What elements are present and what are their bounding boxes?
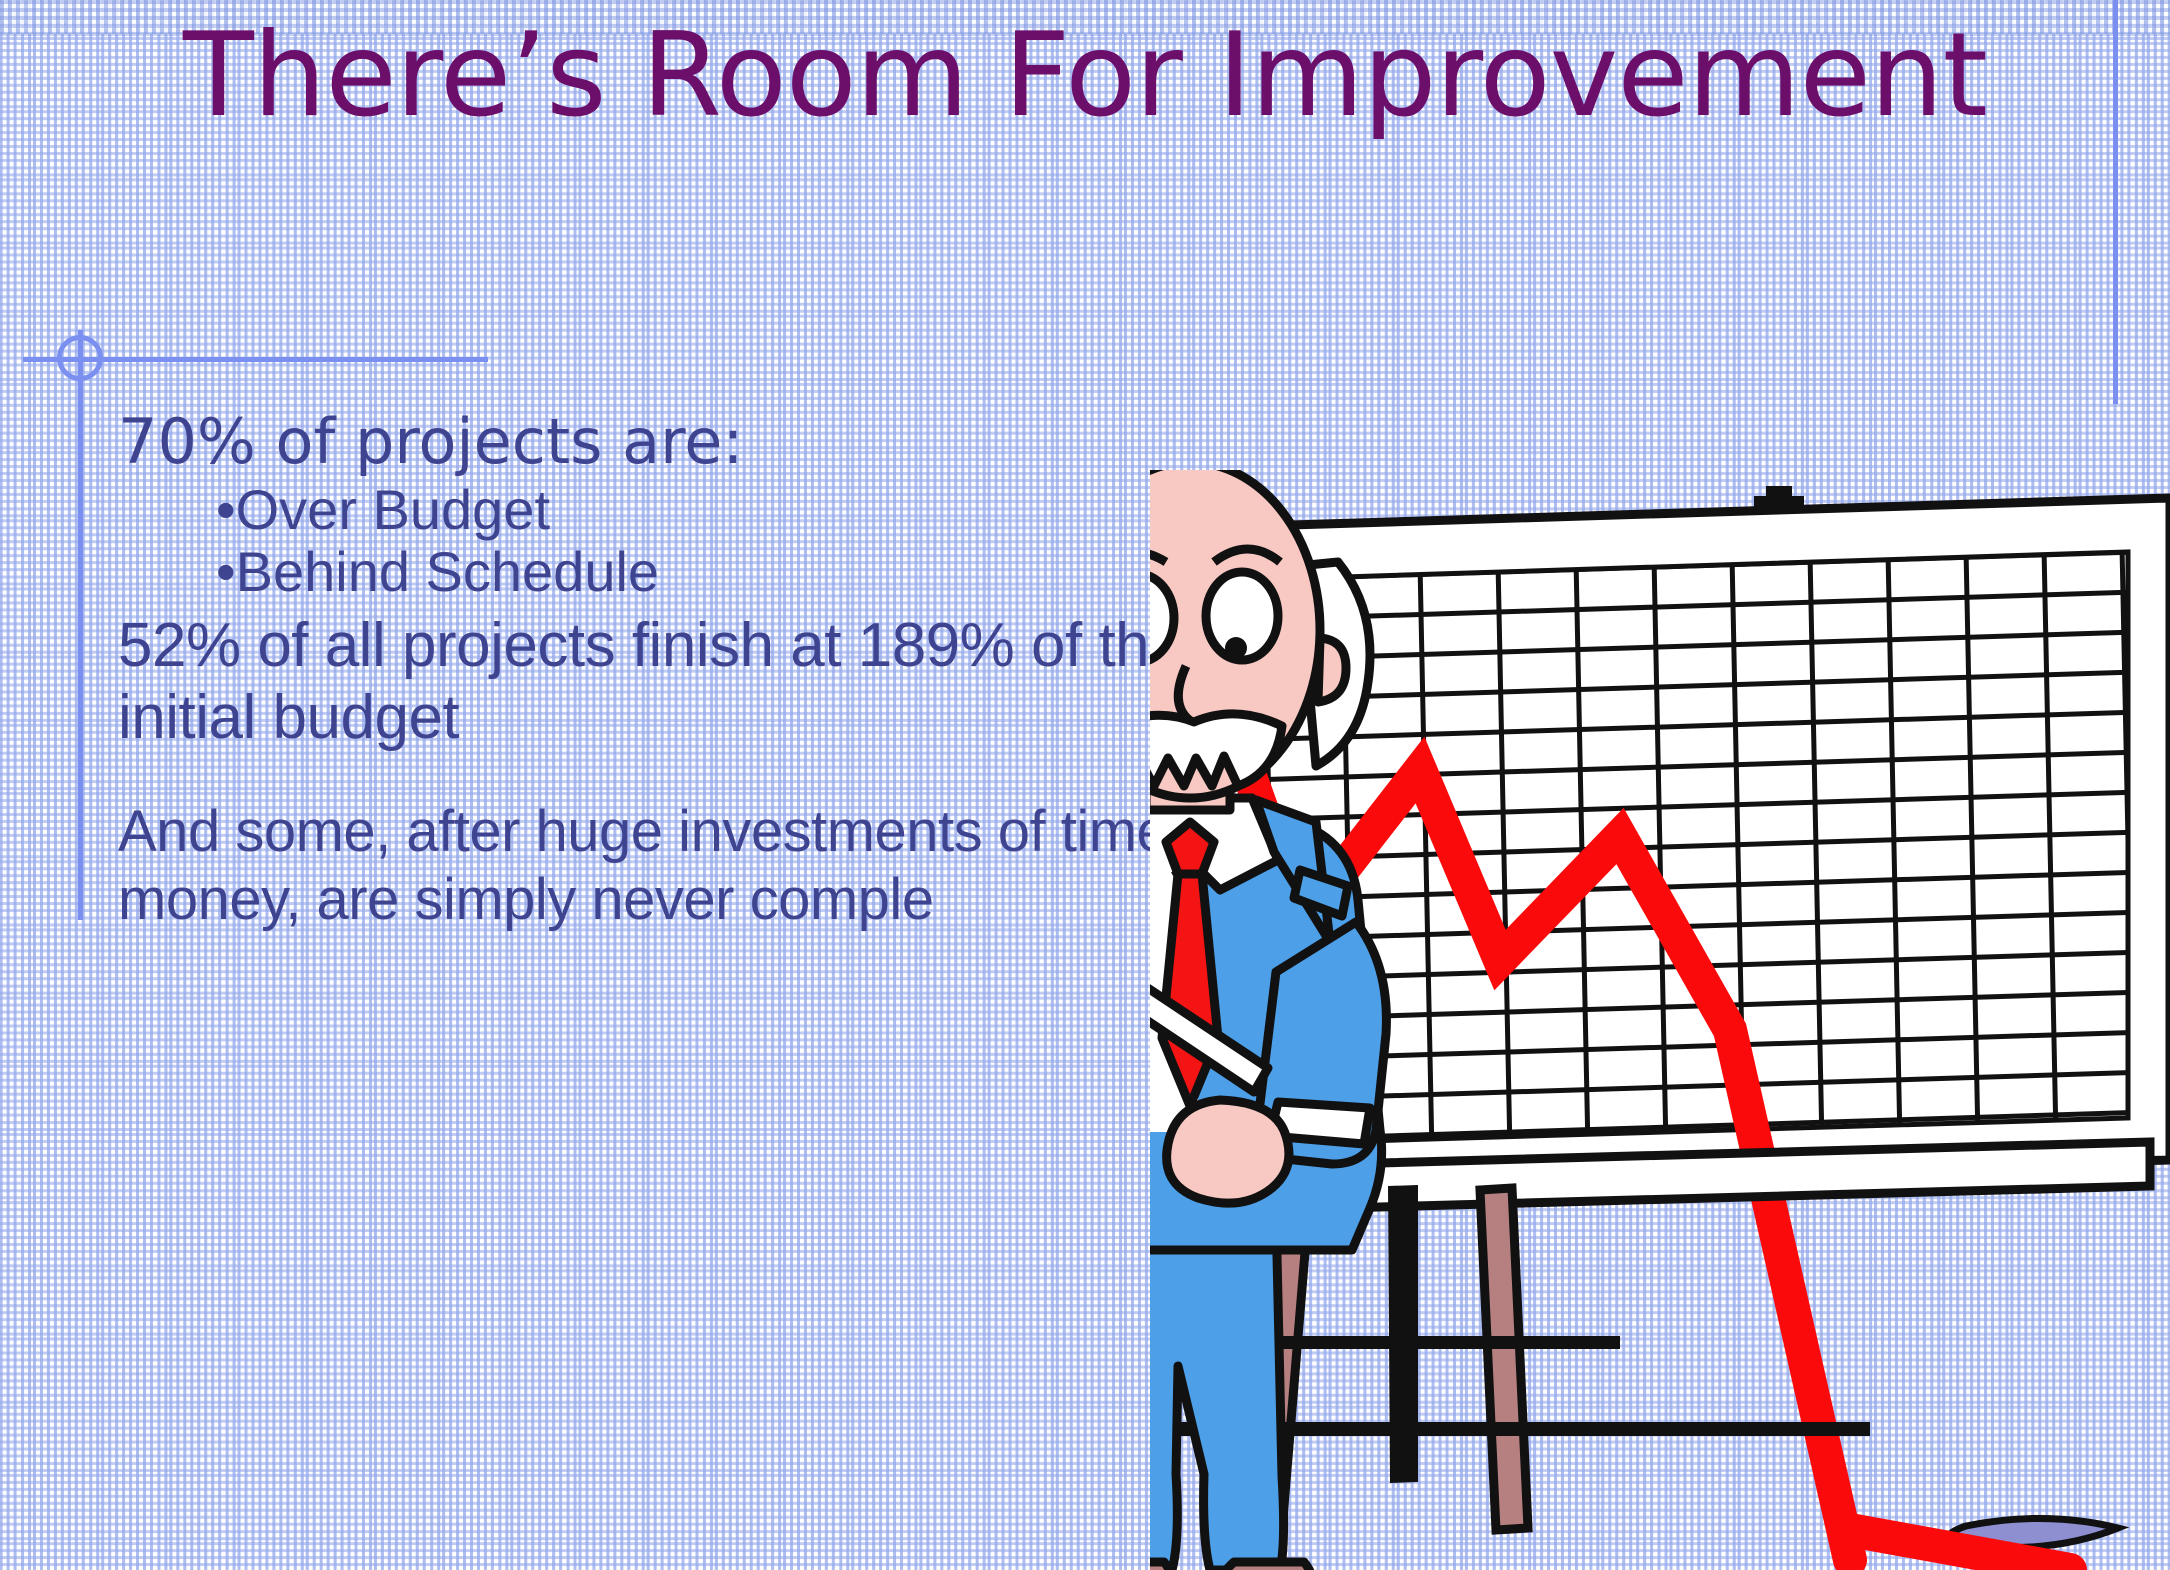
businessman-figure — [1150, 470, 1386, 1570]
bullet-label: Over Budget — [236, 478, 550, 541]
hand-right — [1167, 1100, 1289, 1203]
ear-right — [1318, 638, 1346, 702]
easel-center-post — [1388, 1185, 1418, 1483]
decorative-vertical-rule — [78, 330, 83, 920]
page-title: There’s Room For Improvement — [0, 18, 2170, 134]
trousers — [1150, 1212, 1284, 1570]
lead-statement: 70% of projects are: — [118, 410, 1368, 473]
shoe-left — [1150, 1562, 1172, 1570]
bullet-marker: • — [216, 540, 236, 603]
easel-leg-right — [1480, 1188, 1528, 1530]
slide-canvas: There’s Room For Improvement 70% of proj… — [0, 0, 2170, 1570]
bullet-label: Behind Schedule — [236, 540, 659, 603]
pupil-right — [1225, 637, 1247, 659]
shoe-right — [1220, 1562, 1312, 1570]
illustration-businessman-chart — [1150, 470, 2170, 1570]
bullet-marker: • — [216, 478, 236, 541]
decorative-horizontal-rule — [23, 357, 488, 362]
